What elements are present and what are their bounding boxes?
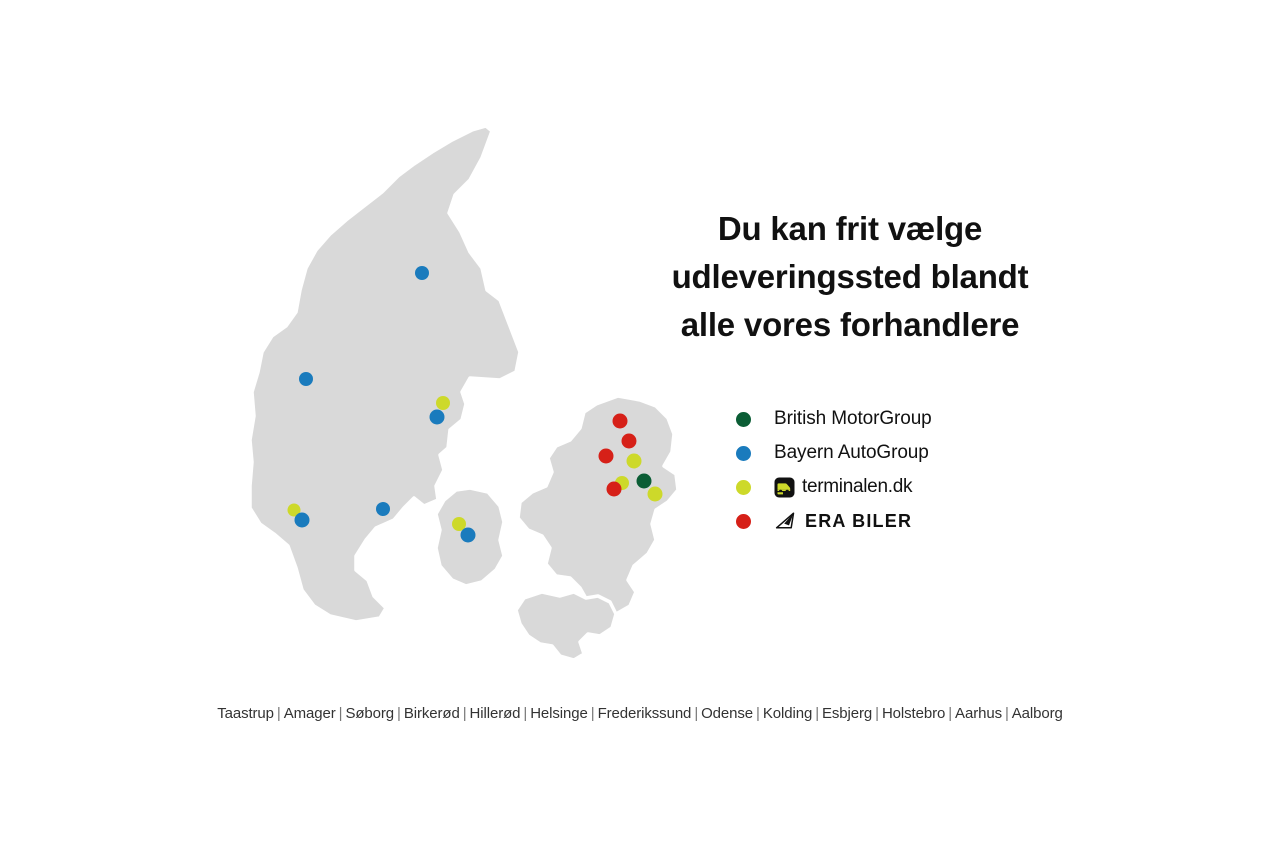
legend-item-bayern-autogroup[interactable]: Bayern AutoGroup [736, 436, 1066, 470]
city-name-hiller-d: Hillerød [470, 705, 521, 722]
city-separator: | [753, 705, 763, 722]
era-biler-triangle-icon [774, 511, 798, 531]
headline-line-3: alle vores forhandlere [640, 301, 1060, 349]
city-name-aarhus: Aarhus [955, 705, 1002, 722]
city-name-odense: Odense [701, 705, 753, 722]
map-dot-aarhus-bayern[interactable] [430, 410, 445, 425]
city-name-kolding: Kolding [763, 705, 812, 722]
headline-line-1: Du kan frit vælge [640, 205, 1060, 253]
city-separator: | [1002, 705, 1012, 722]
legend-label-british-motorgroup: British MotorGroup [774, 408, 932, 430]
map-region-zealand [518, 396, 678, 614]
map-dot-aalborg-bayern[interactable] [415, 266, 429, 280]
city-separator: | [520, 705, 530, 722]
map-dot-taastrup-era[interactable] [607, 482, 622, 497]
city-separator: | [336, 705, 346, 722]
map-dot-frederikssund-era[interactable] [599, 449, 614, 464]
city-name-s-borg: Søborg [345, 705, 394, 722]
map-dot-helsinge-era[interactable] [613, 414, 628, 429]
legend-swatch-british-motorgroup [736, 412, 751, 427]
city-separator: | [691, 705, 701, 722]
city-separator: | [394, 705, 404, 722]
map-dot-amager-terminalen[interactable] [648, 487, 663, 502]
map-dot-hillerod-era[interactable] [622, 434, 637, 449]
legend-label-era-biler: ERA BILER [805, 511, 912, 532]
city-separator: | [588, 705, 598, 722]
map-dot-esbjerg-bayern[interactable] [295, 513, 310, 528]
legend-label-bayern-autogroup: Bayern AutoGroup [774, 442, 929, 464]
city-separator: | [812, 705, 822, 722]
map-dot-odense-bayern[interactable] [461, 528, 476, 543]
city-name-birker-d: Birkerød [404, 705, 460, 722]
map-dot-holstebro-bayern[interactable] [299, 372, 313, 386]
city-separator: | [460, 705, 470, 722]
city-name-helsinge: Helsinge [530, 705, 588, 722]
city-name-esbjerg: Esbjerg [822, 705, 872, 722]
denmark-map-panel [230, 110, 710, 680]
legend-swatch-terminalen [736, 480, 751, 495]
city-name-taastrup: Taastrup [217, 705, 274, 722]
map-dot-aarhus-terminalen[interactable] [436, 396, 450, 410]
city-separator: | [945, 705, 955, 722]
terminalen-van-icon [774, 477, 795, 498]
city-separator: | [872, 705, 882, 722]
headline-line-2: udleveringssted blandt [640, 253, 1060, 301]
map-dot-kolding-bayern[interactable] [376, 502, 390, 516]
city-list: Taastrup|Amager|Søborg|Birkerød|Hillerød… [0, 705, 1280, 722]
legend-item-terminalen[interactable]: terminalen.dk [736, 470, 1066, 504]
legend-label-terminalen: terminalen.dk [802, 476, 912, 498]
city-separator: | [274, 705, 284, 722]
page-headline: Du kan frit vælge udleveringssted blandt… [640, 205, 1060, 349]
map-region-lolland-falster [516, 592, 616, 660]
map-dot-birkerod-terminalen[interactable] [627, 454, 642, 469]
map-dot-soborg-british[interactable] [637, 474, 652, 489]
city-name-aalborg: Aalborg [1012, 705, 1063, 722]
legend-swatch-bayern-autogroup [736, 446, 751, 461]
city-name-frederikssund: Frederikssund [598, 705, 692, 722]
legend-item-era-biler[interactable]: ERA BILER [736, 504, 1066, 538]
city-name-holstebro: Holstebro [882, 705, 945, 722]
denmark-map-svg [230, 110, 710, 680]
city-name-amager: Amager [284, 705, 336, 722]
dealer-legend: British MotorGroup Bayern AutoGroup term… [736, 402, 1066, 538]
legend-item-british-motorgroup[interactable]: British MotorGroup [736, 402, 1066, 436]
legend-swatch-era-biler [736, 514, 751, 529]
